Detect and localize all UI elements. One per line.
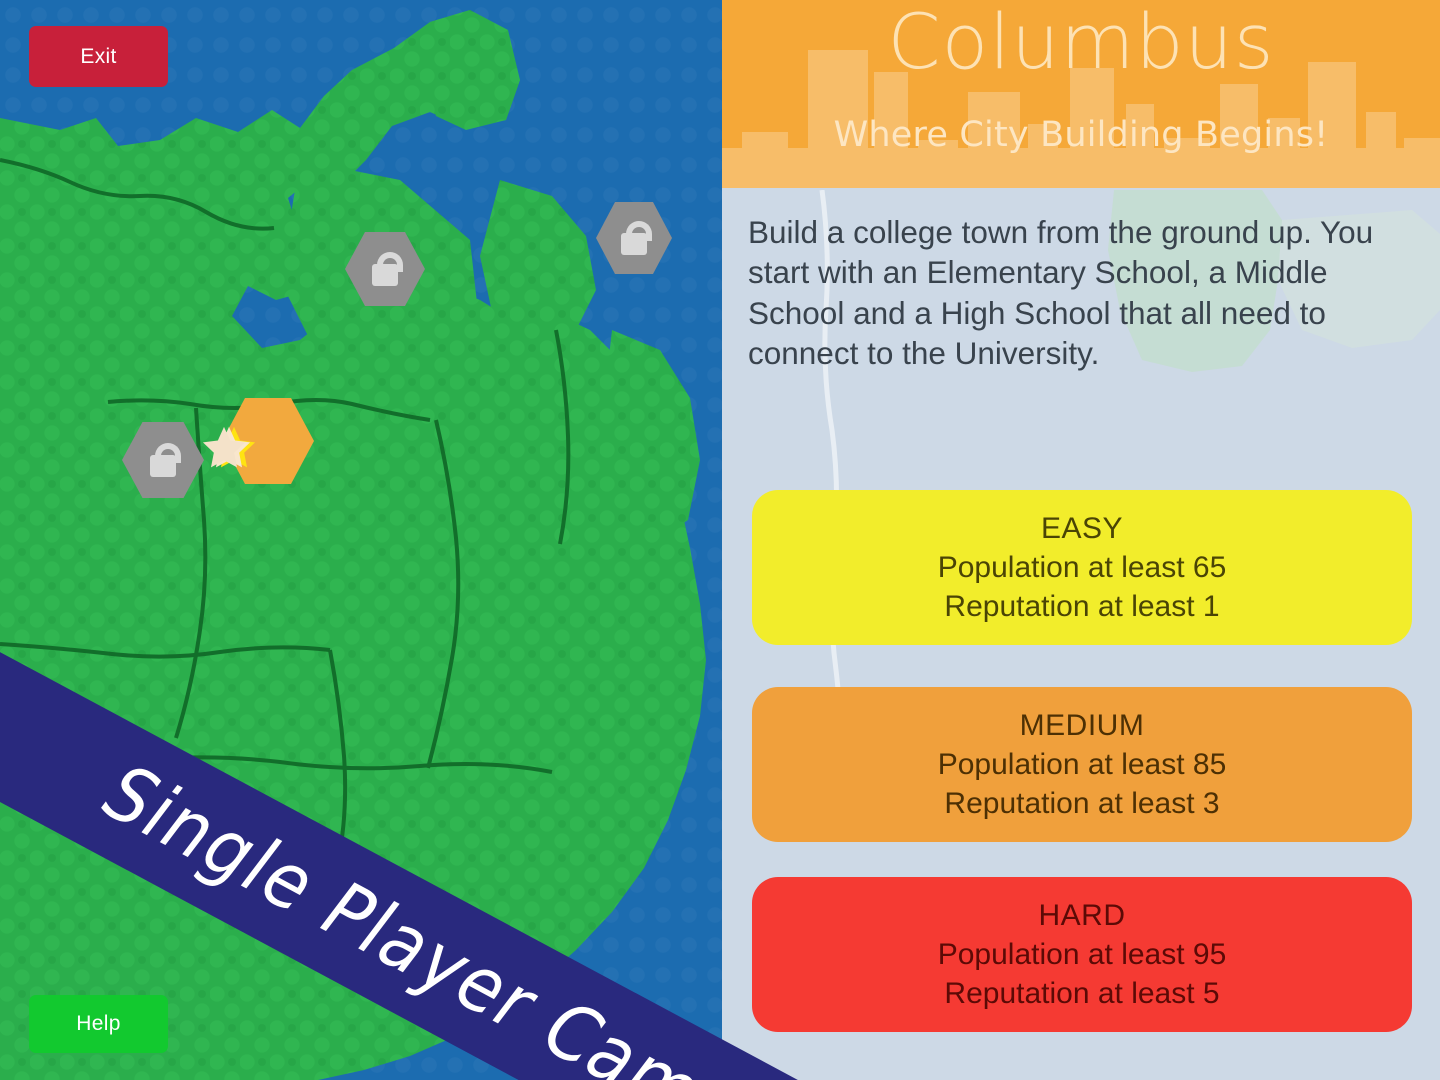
exit-button[interactable]: Exit	[29, 26, 168, 87]
campaign-map-screen: Exit Help	[0, 0, 1440, 1080]
difficulty-reputation: Reputation at least 5	[944, 974, 1219, 1013]
scenario-description: Build a college town from the ground up.…	[748, 212, 1420, 373]
difficulty-card-easy[interactable]: EASY Population at least 65 Reputation a…	[752, 490, 1412, 645]
difficulty-population: Population at least 65	[938, 548, 1227, 587]
difficulty-card-medium[interactable]: MEDIUM Population at least 85 Reputation…	[752, 687, 1412, 842]
difficulty-population: Population at least 85	[938, 745, 1227, 784]
help-button[interactable]: Help	[29, 995, 168, 1053]
difficulty-card-hard[interactable]: HARD Population at least 95 Reputation a…	[752, 877, 1412, 1032]
scenario-header: Columbus Where City Building Begins!	[722, 0, 1440, 188]
difficulty-population: Population at least 95	[938, 935, 1227, 974]
city-title: Columbus	[722, 4, 1440, 80]
difficulty-name: HARD	[1038, 896, 1125, 935]
difficulty-reputation: Reputation at least 1	[944, 587, 1219, 626]
scenario-info-panel: Columbus Where City Building Begins! Bui…	[722, 0, 1440, 1080]
difficulty-reputation: Reputation at least 3	[944, 784, 1219, 823]
city-tagline: Where City Building Begins!	[722, 118, 1440, 153]
difficulty-name: EASY	[1041, 509, 1123, 548]
difficulty-name: MEDIUM	[1020, 706, 1145, 745]
